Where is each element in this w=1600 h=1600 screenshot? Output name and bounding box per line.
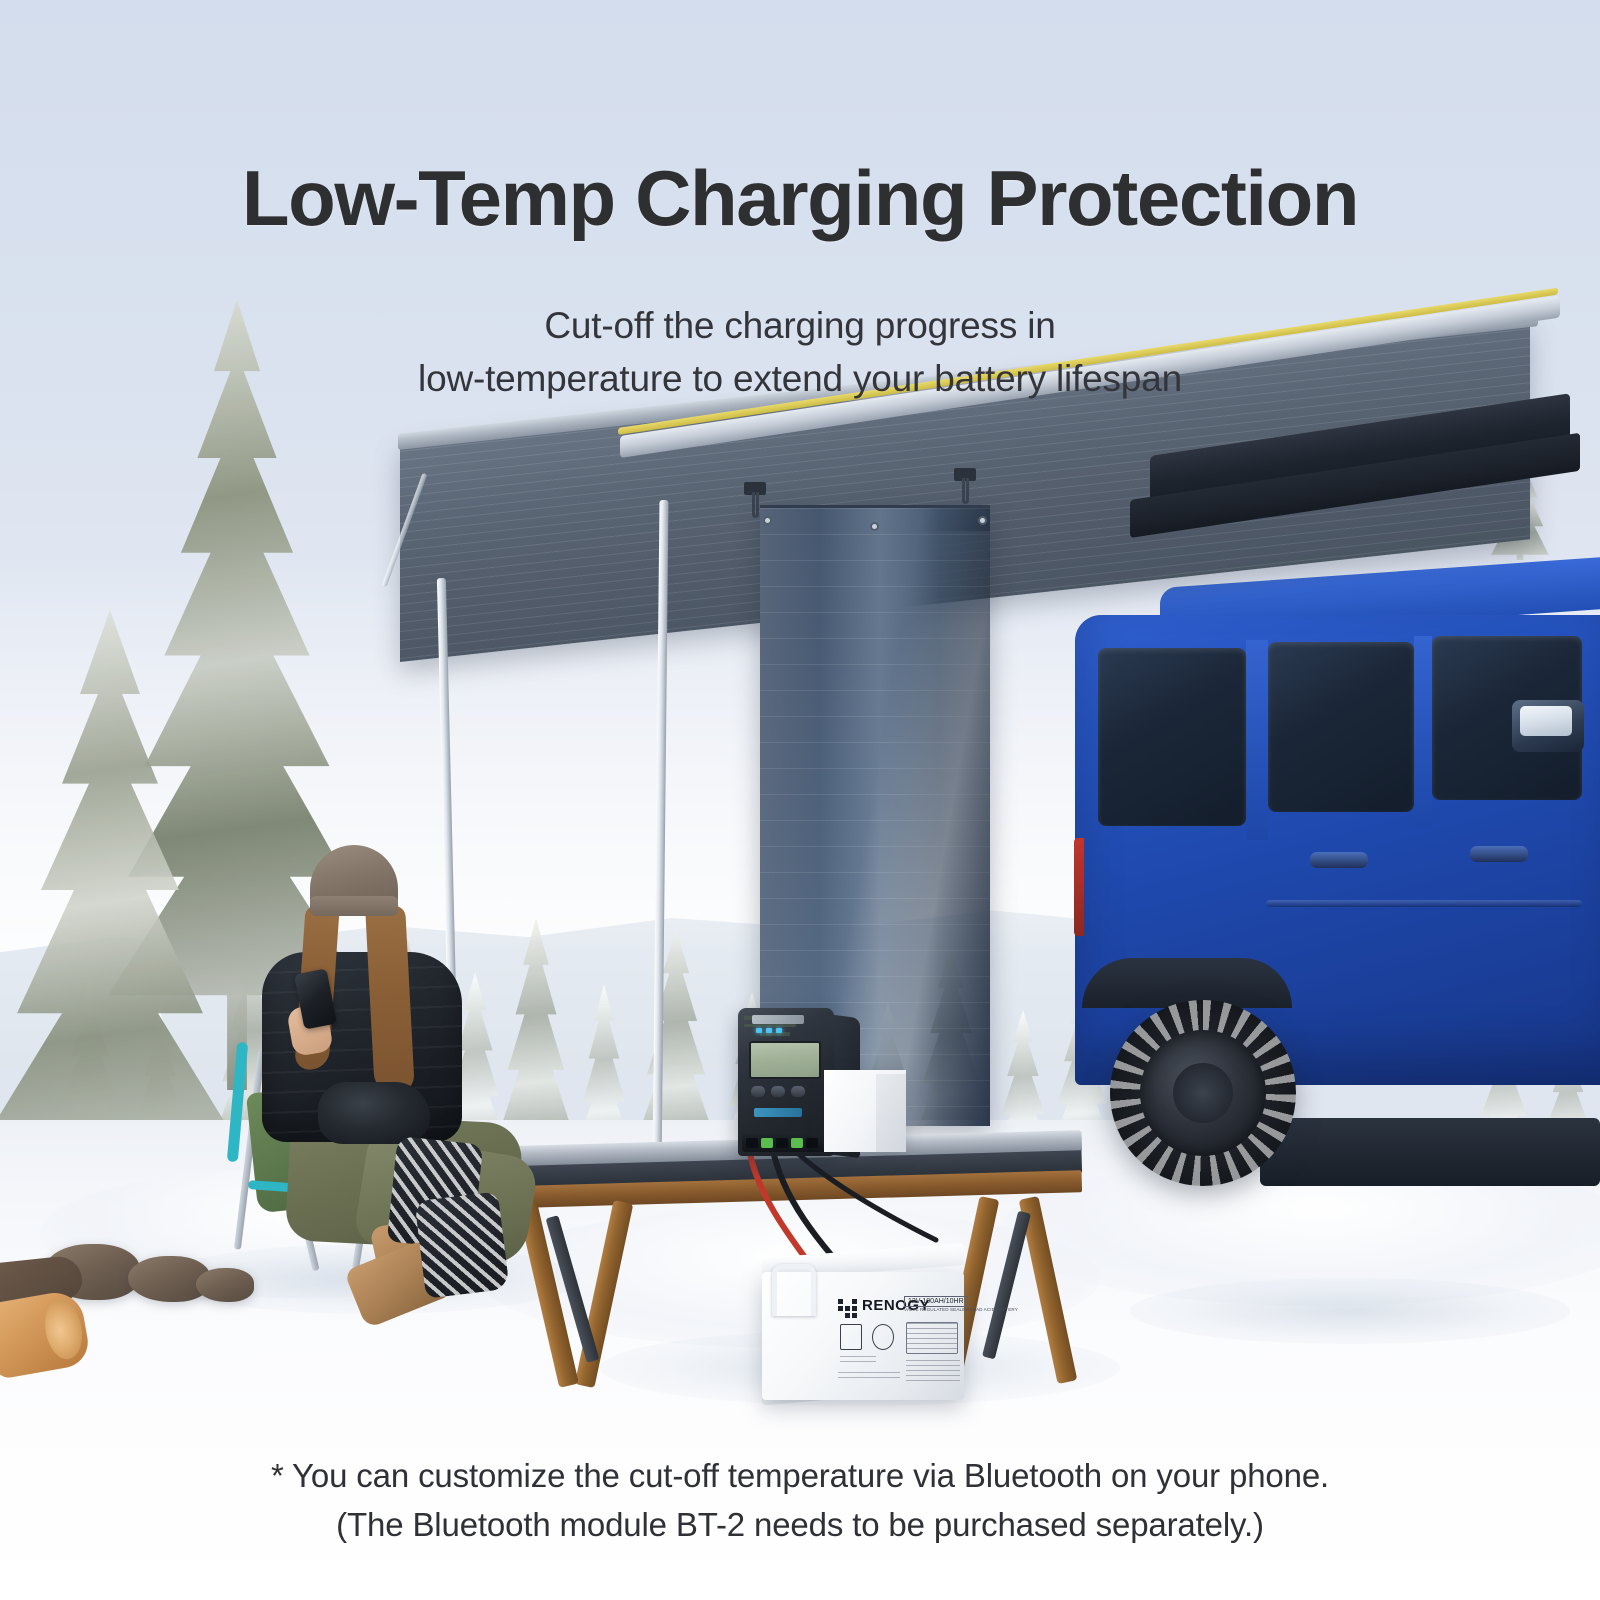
page-footnote: * You can customize the cut-off temperat… xyxy=(0,1452,1600,1550)
footnote-line-1: * You can customize the cut-off temperat… xyxy=(0,1452,1600,1501)
page-subtitle: Cut-off the charging progress in low-tem… xyxy=(0,300,1600,406)
subtitle-line-2: low-temperature to extend your battery l… xyxy=(0,353,1600,406)
text-overlay: Low-Temp Charging Protection Cut-off the… xyxy=(0,0,1600,1600)
footnote-line-2: (The Bluetooth module BT-2 needs to be p… xyxy=(0,1501,1600,1550)
page-title: Low-Temp Charging Protection xyxy=(0,158,1600,240)
subtitle-line-1: Cut-off the charging progress in xyxy=(0,300,1600,353)
marketing-banner: RENOGY 12V 100AH/10HR VALVE REGULATED SE… xyxy=(0,0,1600,1600)
